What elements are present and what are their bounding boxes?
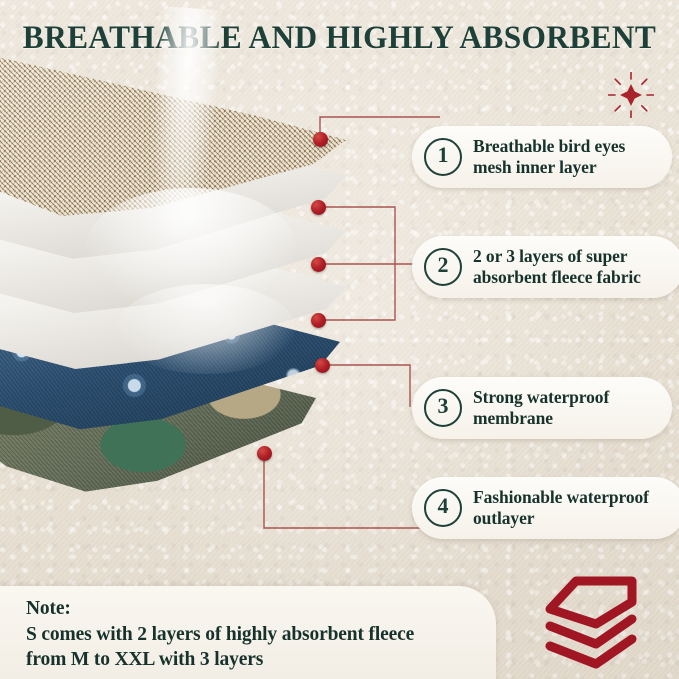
callout-marker-icon-2c xyxy=(311,313,326,328)
callout-3[interactable]: 3 Strong waterproof membrane xyxy=(412,377,672,439)
leader-line-3 xyxy=(322,365,410,407)
layers-stack-icon xyxy=(540,572,648,672)
infographic-canvas: BREATHABLE AND HIGHLY ABSORBENT xyxy=(0,0,679,679)
callout-marker-icon-2a xyxy=(311,200,326,215)
callout-marker-icon-3 xyxy=(315,358,330,373)
callout-marker-icon-1 xyxy=(313,132,328,147)
note-text: Note: S comes with 2 layers of highly ab… xyxy=(26,596,414,673)
note-panel: Note: S comes with 2 layers of highly ab… xyxy=(0,586,496,679)
callout-marker-icon-2b xyxy=(311,257,326,272)
callout-4[interactable]: 4 Fashionable waterproof outlayer xyxy=(412,477,679,539)
callout-1[interactable]: 1 Breathable bird eyes mesh inner layer xyxy=(412,126,672,188)
callout-3-number: 3 xyxy=(424,389,462,427)
callout-2-number: 2 xyxy=(424,248,462,286)
callout-2-label: 2 or 3 layers of super absorbent fleece … xyxy=(473,246,641,288)
callout-marker-icon-4 xyxy=(257,446,272,461)
callout-4-number: 4 xyxy=(424,489,462,527)
callout-2[interactable]: 2 2 or 3 layers of super absorbent fleec… xyxy=(412,236,679,298)
callout-1-label: Breathable bird eyes mesh inner layer xyxy=(473,136,625,178)
callout-1-number: 1 xyxy=(424,138,462,176)
callout-3-label: Strong waterproof membrane xyxy=(473,387,609,429)
callout-4-label: Fashionable waterproof outlayer xyxy=(473,487,649,529)
